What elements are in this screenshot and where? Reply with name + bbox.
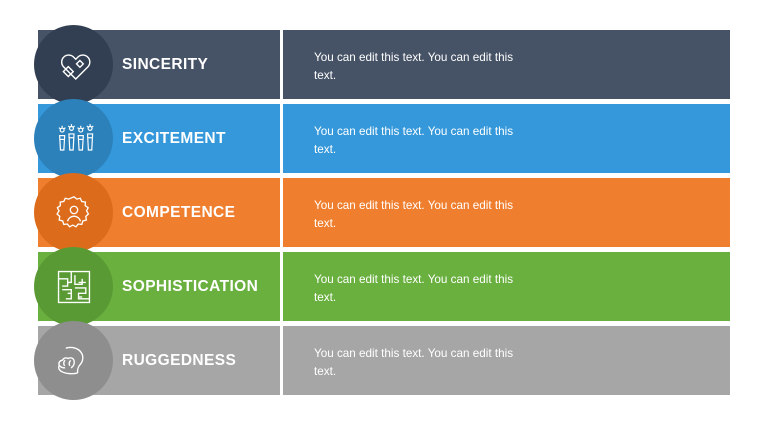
fireworks-sparklers-icon — [52, 118, 96, 160]
row-right-panel-sophistication[interactable]: You can edit this text. You can edit thi… — [283, 252, 730, 321]
row-right-panel-excitement[interactable]: You can edit this text. You can edit thi… — [283, 104, 730, 173]
list-item[interactable]: EXCITEMENT You can edit this text. You c… — [0, 104, 768, 173]
slide-canvas: SINCERITY You can edit this text. You ca… — [0, 0, 768, 432]
row-description: You can edit this text. You can edit thi… — [314, 123, 514, 159]
row-description: You can edit this text. You can edit thi… — [314, 271, 514, 307]
row-left-bar-excitement[interactable]: EXCITEMENT — [38, 104, 280, 173]
row-right-panel-sincerity[interactable]: You can edit this text. You can edit thi… — [283, 30, 730, 99]
row-title: RUGGEDNESS — [122, 326, 236, 395]
list-item[interactable]: SOPHISTICATION You can edit this text. Y… — [0, 252, 768, 321]
heart-diamond-icon — [53, 44, 95, 86]
icon-circle-sophistication[interactable] — [34, 247, 113, 326]
icon-circle-excitement[interactable] — [34, 99, 113, 178]
icon-circle-ruggedness[interactable] — [34, 321, 113, 400]
list-item[interactable]: COMPETENCE You can edit this text. You c… — [0, 178, 768, 247]
row-left-bar-sophistication[interactable]: SOPHISTICATION — [38, 252, 280, 321]
row-left-bar-competence[interactable]: COMPETENCE — [38, 178, 280, 247]
row-title: SINCERITY — [122, 30, 208, 99]
gear-person-icon — [53, 192, 95, 234]
row-right-panel-ruggedness[interactable]: You can edit this text. You can edit thi… — [283, 326, 730, 395]
icon-circle-competence[interactable] — [34, 173, 113, 252]
list-item[interactable]: RUGGEDNESS You can edit this text. You c… — [0, 326, 768, 395]
row-list: SINCERITY You can edit this text. You ca… — [0, 30, 768, 400]
row-description: You can edit this text. You can edit thi… — [314, 345, 514, 381]
row-title: SOPHISTICATION — [122, 252, 258, 321]
row-title: COMPETENCE — [122, 178, 235, 247]
icon-circle-sincerity[interactable] — [34, 25, 113, 104]
maze-labyrinth-icon — [54, 267, 94, 307]
row-left-bar-sincerity[interactable]: SINCERITY — [38, 30, 280, 99]
row-right-panel-competence[interactable]: You can edit this text. You can edit thi… — [283, 178, 730, 247]
list-item[interactable]: SINCERITY You can edit this text. You ca… — [0, 30, 768, 99]
row-left-bar-ruggedness[interactable]: RUGGEDNESS — [38, 326, 280, 395]
row-description: You can edit this text. You can edit thi… — [314, 197, 514, 233]
row-title: EXCITEMENT — [122, 104, 226, 173]
row-description: You can edit this text. You can edit thi… — [314, 49, 514, 85]
flexed-bicep-icon — [52, 339, 96, 383]
